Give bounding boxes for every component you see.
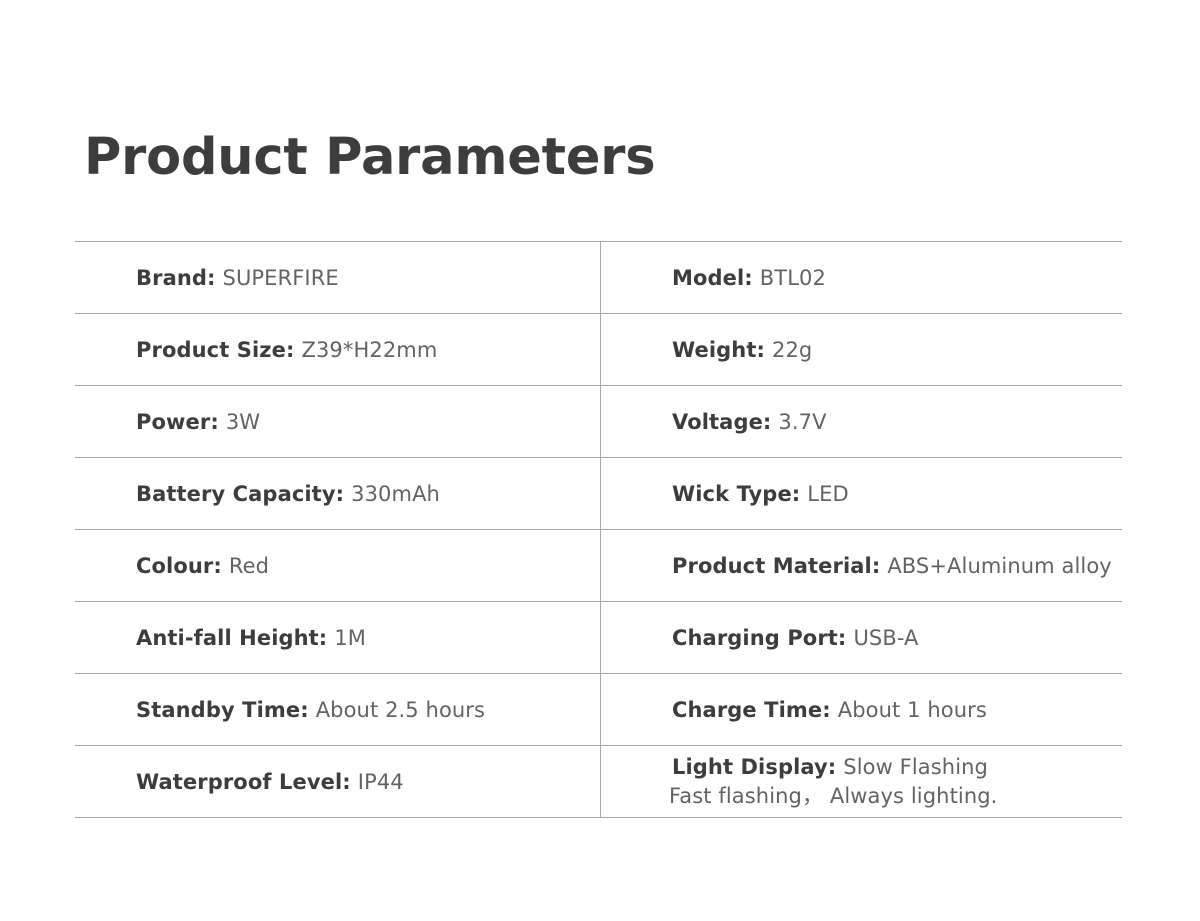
table-row: Waterproof Level:IP44 Light Display:Slow… bbox=[75, 746, 1122, 818]
spec-value: ABS+Aluminum alloy bbox=[887, 554, 1112, 578]
table-row: Anti-fall Height:1M Charging Port:USB-A bbox=[75, 602, 1122, 674]
spec-cell-anti-fall-height: Anti-fall Height:1M bbox=[75, 602, 601, 673]
product-parameters-page: Product Parameters Brand:SUPERFIRE Model… bbox=[0, 0, 1200, 921]
spec-value: About 2.5 hours bbox=[316, 698, 485, 722]
spec-label: Colour: bbox=[136, 554, 222, 578]
spec-value: 1M bbox=[334, 626, 366, 650]
spec-value: About 1 hours bbox=[838, 698, 987, 722]
table-row: Colour:Red Product Material:ABS+Aluminum… bbox=[75, 530, 1122, 602]
spec-value: 3W bbox=[226, 410, 260, 434]
spec-value: IP44 bbox=[358, 770, 404, 794]
spec-cell-weight: Weight:22g bbox=[601, 314, 1122, 385]
spec-value: 22g bbox=[772, 338, 812, 362]
spec-cell-product-size: Product Size:Ζ39*H22mm bbox=[75, 314, 601, 385]
spec-cell-charging-port: Charging Port:USB-A bbox=[601, 602, 1122, 673]
spec-cell-brand: Brand:SUPERFIRE bbox=[75, 242, 601, 313]
page-title: Product Parameters bbox=[84, 130, 655, 186]
table-row: Standby Time:About 2.5 hours Charge Time… bbox=[75, 674, 1122, 746]
spec-cell-standby-time: Standby Time:About 2.5 hours bbox=[75, 674, 601, 745]
spec-label: Waterproof Level: bbox=[136, 770, 351, 794]
spec-value: USB-A bbox=[853, 626, 918, 650]
spec-cell-product-material: Product Material:ABS+Aluminum alloy bbox=[601, 530, 1122, 601]
spec-label: Brand: bbox=[136, 266, 216, 290]
table-row: Product Size:Ζ39*H22mm Weight:22g bbox=[75, 314, 1122, 386]
spec-cell-colour: Colour:Red bbox=[75, 530, 601, 601]
spec-value: Red bbox=[229, 554, 269, 578]
spec-value: SUPERFIRE bbox=[223, 266, 339, 290]
spec-label: Product Size: bbox=[136, 338, 294, 362]
spec-value: LED bbox=[807, 482, 848, 506]
spec-value: 3.7V bbox=[778, 410, 826, 434]
spec-cell-waterproof-level: Waterproof Level:IP44 bbox=[75, 746, 601, 817]
spec-label: Standby Time: bbox=[136, 698, 309, 722]
spec-label: Voltage: bbox=[672, 410, 771, 434]
table-row: Power:3W Voltage:3.7V bbox=[75, 386, 1122, 458]
spec-cell-wick-type: Wick Type:LED bbox=[601, 458, 1122, 529]
specifications-table: Brand:SUPERFIRE Model:BTL02 Product Size… bbox=[75, 241, 1122, 818]
table-row: Brand:SUPERFIRE Model:BTL02 bbox=[75, 242, 1122, 314]
spec-label: Anti-fall Height: bbox=[136, 626, 327, 650]
spec-label: Model: bbox=[672, 266, 753, 290]
spec-cell-model: Model:BTL02 bbox=[601, 242, 1122, 313]
spec-value: Slow Flashing bbox=[843, 755, 988, 779]
table-row: Battery Capacity:330mAh Wick Type:LED bbox=[75, 458, 1122, 530]
spec-label: Charge Time: bbox=[672, 698, 831, 722]
spec-label: Power: bbox=[136, 410, 219, 434]
spec-cell-battery-capacity: Battery Capacity:330mAh bbox=[75, 458, 601, 529]
spec-cell-power: Power:3W bbox=[75, 386, 601, 457]
spec-value-line2: Fast flashing， Always lighting. bbox=[669, 782, 997, 810]
spec-label: Light Display: bbox=[672, 755, 836, 779]
spec-label: Weight: bbox=[672, 338, 765, 362]
spec-label: Wick Type: bbox=[672, 482, 800, 506]
spec-cell-light-display: Light Display:Slow Flashing Fast flashin… bbox=[601, 746, 1122, 817]
spec-cell-voltage: Voltage:3.7V bbox=[601, 386, 1122, 457]
spec-label: Charging Port: bbox=[672, 626, 846, 650]
spec-label: Product Material: bbox=[672, 554, 880, 578]
spec-cell-charge-time: Charge Time:About 1 hours bbox=[601, 674, 1122, 745]
spec-label: Battery Capacity: bbox=[136, 482, 344, 506]
spec-value: 330mAh bbox=[351, 482, 440, 506]
spec-value: Ζ39*H22mm bbox=[301, 338, 437, 362]
spec-value: BTL02 bbox=[760, 266, 826, 290]
